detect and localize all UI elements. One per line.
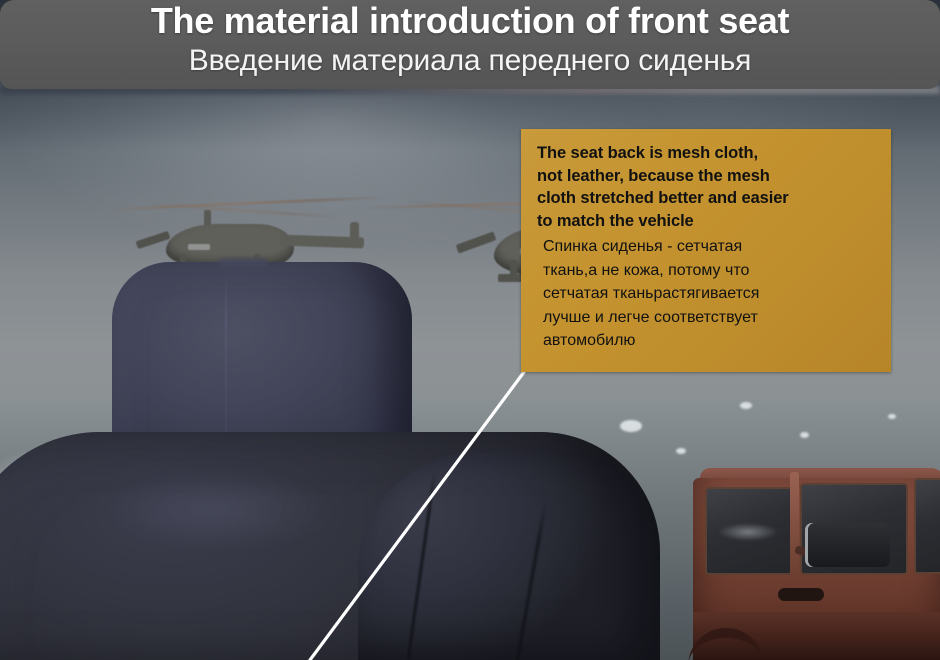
- callout-russian-text: Спинка сиденья - сетчатая ткань,а не кож…: [537, 235, 877, 353]
- jeep-window-snow: [710, 520, 784, 544]
- callout-ru-line: автомобилю: [543, 329, 877, 353]
- callout-ru-line: Спинка сиденья - сетчатая: [543, 235, 877, 259]
- page-title-russian: Введение материала переднего сиденья: [0, 40, 940, 82]
- snow-patch: [888, 414, 896, 419]
- callout-en-line: The seat back is mesh cloth,: [537, 142, 877, 165]
- title-banner: The material introduction of front seat …: [0, 0, 940, 89]
- callout-english-text: The seat back is mesh cloth, not leather…: [537, 142, 877, 232]
- jeep-side-mirror: [808, 523, 890, 567]
- callout-en-line: cloth stretched better and easier: [537, 187, 877, 210]
- headrest-seam-notch: [218, 258, 268, 267]
- snow-patch: [740, 402, 752, 409]
- seat-back-shoulder: [358, 452, 658, 660]
- page-title-english: The material introduction of front seat: [0, 0, 940, 43]
- callout-en-line: not leather, because the mesh: [537, 165, 877, 188]
- snow-patch: [676, 448, 686, 454]
- callout-box: The seat back is mesh cloth, not leather…: [521, 129, 891, 372]
- snow-patch: [620, 420, 642, 432]
- callout-ru-line: лучше и легче соответствует: [543, 306, 877, 330]
- jeep-windshield: [914, 478, 940, 574]
- callout-ru-line: сетчатая тканьрастягивается: [543, 282, 877, 306]
- jeep-door-pillar: [790, 472, 799, 576]
- callout-en-line: to match the vehicle: [537, 210, 877, 233]
- callout-ru-line: ткань,а не кожа, потому что: [543, 259, 877, 283]
- snow-patch: [800, 432, 809, 438]
- seat-highlight: [60, 455, 380, 565]
- jeep-door-handle: [778, 588, 824, 601]
- slide-canvas: The seat back is mesh cloth, not leather…: [0, 0, 940, 660]
